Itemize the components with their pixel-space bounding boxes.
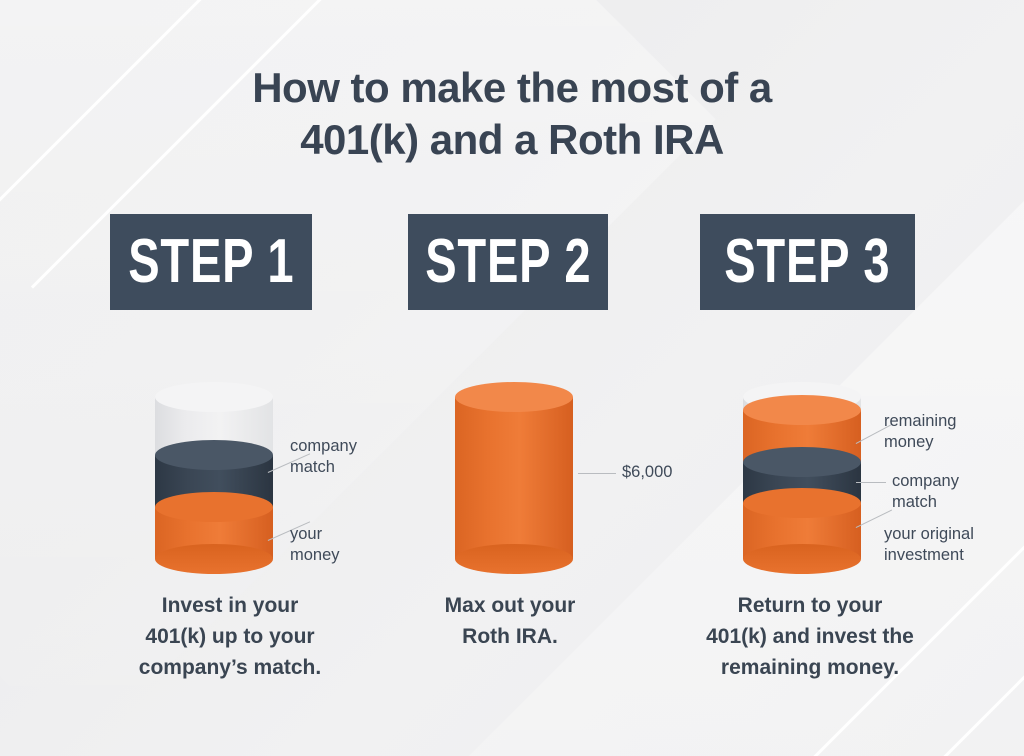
cylinder-step-1: [155, 397, 273, 559]
callout-original-investment-step-3: your original investment: [884, 524, 974, 566]
caption-line-2: Roth IRA.: [380, 621, 640, 652]
leader-line-amount-step-2: [578, 473, 616, 474]
step-badge-2-label: STEP 2: [425, 231, 591, 293]
callout-remaining-money-step-3: remaining money: [884, 411, 956, 453]
cylinder-step-2: [455, 397, 573, 559]
caption-line-3: company’s match.: [80, 652, 380, 683]
title-line-1: How to make the most of a: [0, 62, 1024, 114]
cylinder-1-band-your-money: [155, 507, 273, 559]
cylinder-step-3: [743, 397, 861, 559]
callout-company-match-step-1: company match: [290, 436, 357, 478]
callout-line-1: remaining: [884, 412, 956, 430]
callout-line-1: company: [290, 437, 357, 455]
callout-line-2: money: [884, 433, 934, 451]
caption-line-2: 401(k) and invest the: [650, 621, 970, 652]
caption-line-2: 401(k) up to your: [80, 621, 380, 652]
callout-your-money-step-1: your money: [290, 524, 340, 566]
caption-line-1: Invest in your: [80, 590, 380, 621]
callout-line-1: company: [892, 472, 959, 490]
caption-line-1: Return to your: [650, 590, 970, 621]
callout-line-1: your: [290, 525, 322, 543]
callout-line-2: match: [290, 458, 335, 476]
callout-line-1: your original: [884, 525, 974, 543]
cylinder-3-band-your-original-investment: [743, 503, 861, 559]
caption-line-1: Max out your: [380, 590, 640, 621]
callout-line-1: $6,000: [622, 463, 672, 481]
step-badge-1: STEP 1: [110, 214, 312, 310]
infographic-canvas: How to make the most of a 401(k) and a R…: [0, 0, 1024, 756]
callout-company-match-step-3: company match: [892, 471, 959, 513]
step-badge-3-label: STEP 3: [724, 231, 890, 293]
step-badge-1-label: STEP 1: [128, 231, 294, 293]
page-title: How to make the most of a 401(k) and a R…: [0, 62, 1024, 166]
title-line-2: 401(k) and a Roth IRA: [0, 114, 1024, 166]
step-badge-2: STEP 2: [408, 214, 608, 310]
caption-line-3: remaining money.: [650, 652, 970, 683]
caption-step-3: Return to your 401(k) and invest the rem…: [650, 590, 970, 683]
caption-step-2: Max out your Roth IRA.: [380, 590, 640, 652]
callout-line-2: investment: [884, 546, 964, 564]
step-badge-3: STEP 3: [700, 214, 915, 310]
callout-amount-step-2: $6,000: [622, 462, 672, 483]
caption-step-1: Invest in your 401(k) up to your company…: [80, 590, 380, 683]
callout-line-2: money: [290, 546, 340, 564]
callout-line-2: match: [892, 493, 937, 511]
cylinder-2-band-roth-ira-total: [455, 397, 573, 559]
